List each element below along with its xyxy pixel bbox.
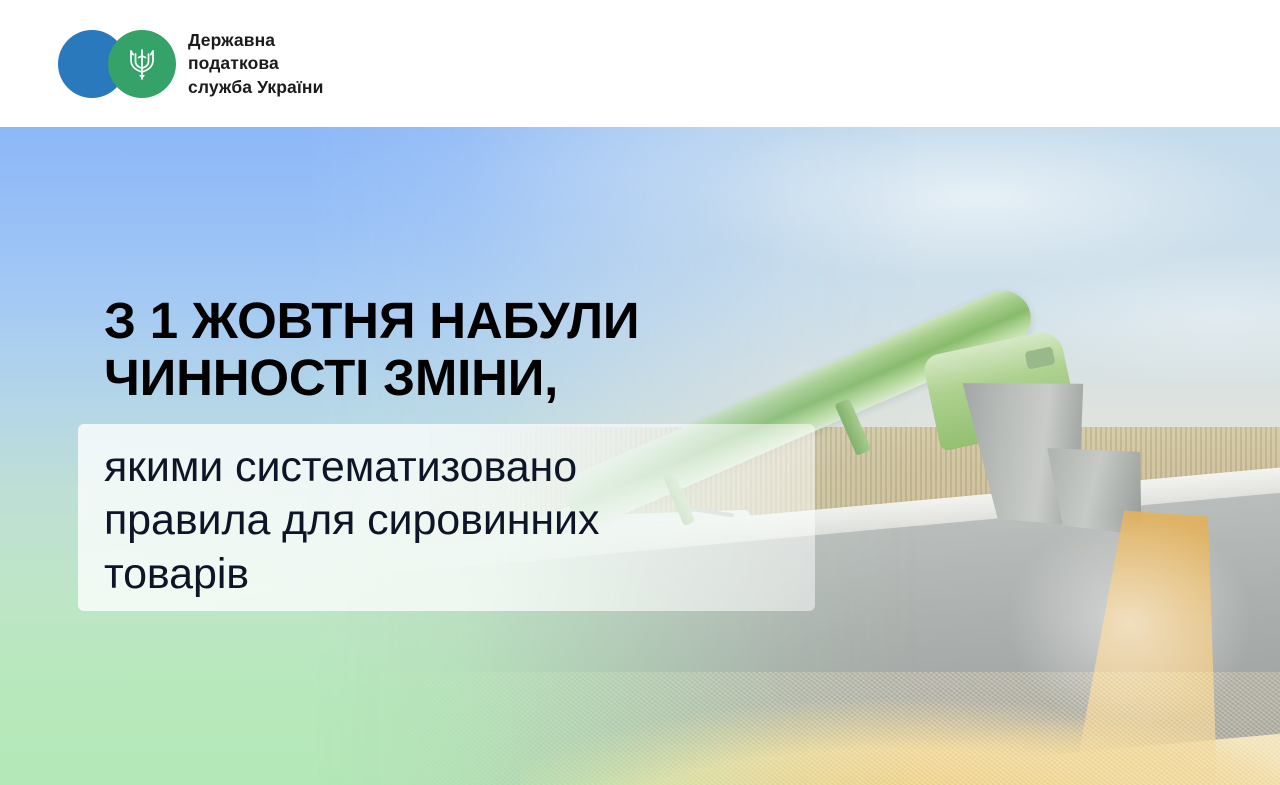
page-title: З 1 ЖОВТНЯ НАБУЛИ ЧИННОСТІ ЗМІНИ, — [104, 292, 639, 406]
logo-text-line-2: податкова — [188, 52, 323, 75]
logo-text: Державна податкова служба України — [188, 29, 323, 98]
header-bar: Державна податкова служба України — [0, 0, 1280, 127]
logo-text-line-1: Державна — [188, 29, 323, 52]
organization-logo[interactable]: Державна податкова служба України — [58, 28, 323, 100]
logo-marks — [58, 28, 176, 100]
ukrainian-trident-icon — [127, 45, 157, 83]
banner-root: З 1 ЖОВТНЯ НАБУЛИ ЧИННОСТІ ЗМІНИ, якими … — [0, 0, 1280, 785]
logo-text-line-3: служба України — [188, 76, 323, 99]
page-subtitle: якими систематизовано правила для сирови… — [104, 441, 824, 601]
green-circle-icon — [108, 30, 176, 98]
